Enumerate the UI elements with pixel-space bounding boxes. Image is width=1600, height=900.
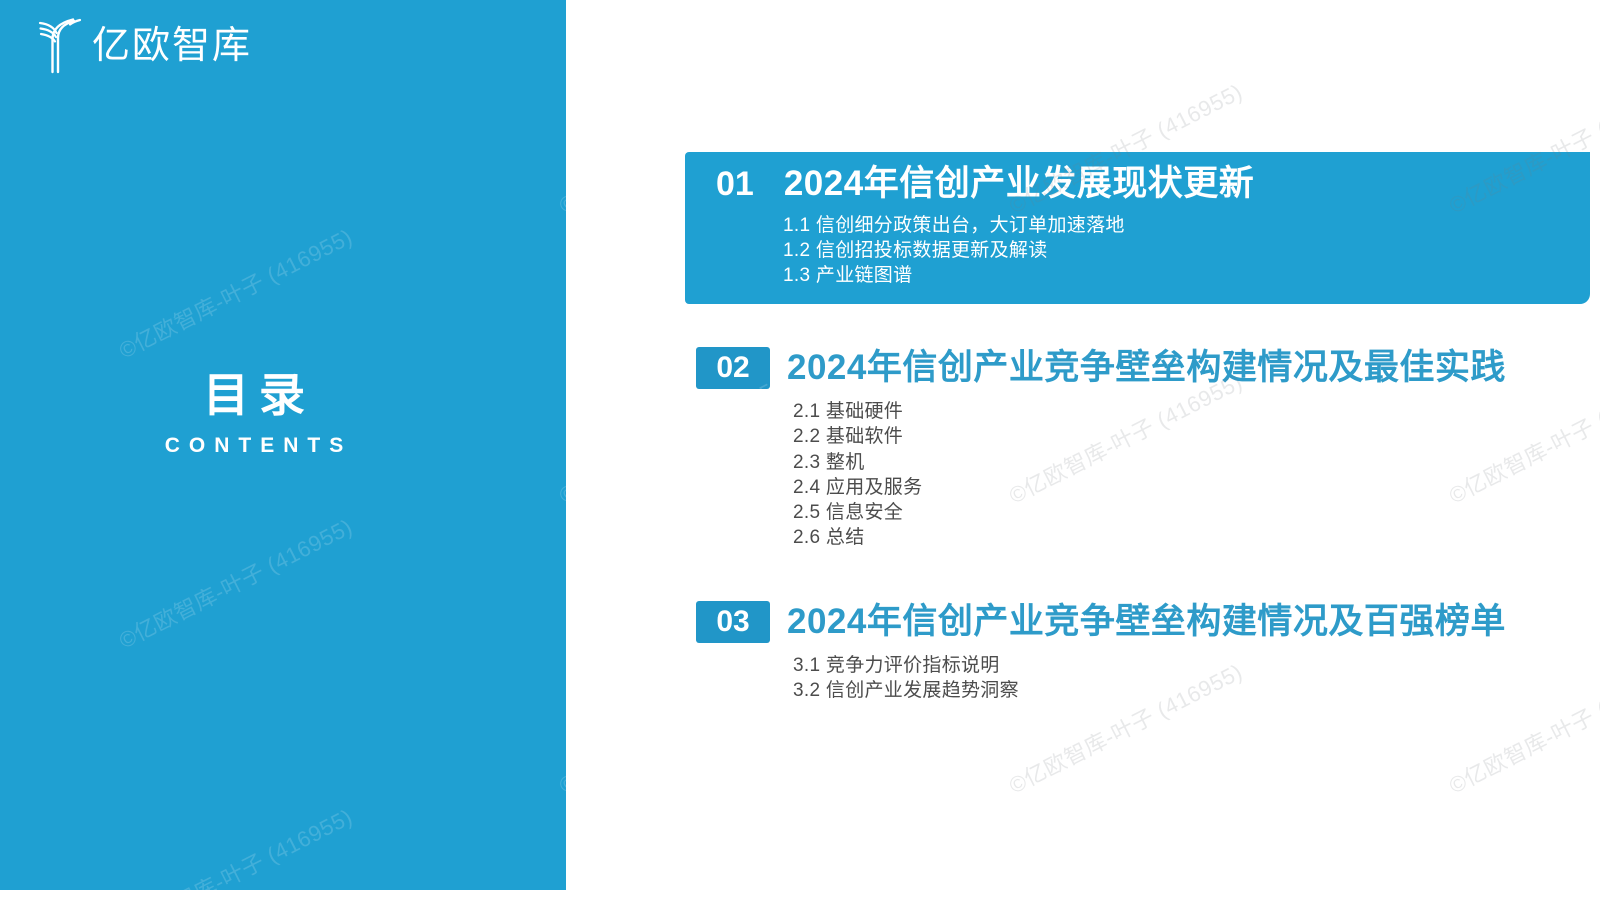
- list-item[interactable]: 1.1 信创细分政策出台，大订单加速落地: [783, 213, 1590, 238]
- slide-canvas: 亿欧智库 目录 CONTENTS 01 2024年信创产业发展现状更新 1.1 …: [0, 0, 1600, 900]
- toc-section-02[interactable]: 02 2024年信创产业竞争壁垒构建情况及最佳实践 2.1 基础硬件 2.2 基…: [696, 347, 1506, 551]
- list-item[interactable]: 2.6 总结: [793, 525, 1506, 550]
- list-item[interactable]: 2.1 基础硬件: [793, 399, 1506, 424]
- list-item[interactable]: 3.2 信创产业发展趋势洞察: [793, 678, 1506, 703]
- section-03-title: 2024年信创产业竞争壁垒构建情况及百强榜单: [787, 603, 1506, 642]
- left-blue-panel: 亿欧智库 目录 CONTENTS: [0, 0, 566, 890]
- contents-heading-block: 目录 CONTENTS: [0, 370, 566, 456]
- contents-title-en: CONTENTS: [0, 435, 508, 456]
- yiou-tree-logo-icon: [36, 18, 86, 74]
- toc-section-03[interactable]: 03 2024年信创产业竞争壁垒构建情况及百强榜单 3.1 竞争力评价指标说明 …: [696, 601, 1506, 704]
- brand-logo: 亿欧智库: [36, 18, 252, 74]
- section-02-number-badge: 02: [696, 347, 770, 389]
- list-item[interactable]: 2.2 基础软件: [793, 424, 1506, 449]
- toc-section-01[interactable]: 01 2024年信创产业发展现状更新 1.1 信创细分政策出台，大订单加速落地 …: [685, 152, 1590, 304]
- section-01-title: 2024年信创产业发展现状更新: [784, 164, 1254, 204]
- section-01-header: 01 2024年信创产业发展现状更新: [685, 164, 1590, 204]
- list-item[interactable]: 2.5 信息安全: [793, 500, 1506, 525]
- section-03-sublist: 3.1 竞争力评价指标说明 3.2 信创产业发展趋势洞察: [696, 653, 1506, 704]
- section-03-header: 03 2024年信创产业竞争壁垒构建情况及百强榜单: [696, 601, 1506, 643]
- list-item[interactable]: 1.2 信创招投标数据更新及解读: [783, 238, 1590, 263]
- list-item[interactable]: 1.3 产业链图谱: [783, 263, 1590, 288]
- section-01-number: 01: [716, 165, 754, 204]
- section-02-header: 02 2024年信创产业竞争壁垒构建情况及最佳实践: [696, 347, 1506, 389]
- contents-title-cn: 目录: [0, 370, 508, 421]
- list-item[interactable]: 3.1 竞争力评价指标说明: [793, 653, 1506, 678]
- section-02-sublist: 2.1 基础硬件 2.2 基础软件 2.3 整机 2.4 应用及服务 2.5 信…: [696, 399, 1506, 551]
- list-item[interactable]: 2.4 应用及服务: [793, 475, 1506, 500]
- section-03-number-badge: 03: [696, 601, 770, 643]
- section-02-title: 2024年信创产业竞争壁垒构建情况及最佳实践: [787, 349, 1506, 388]
- toc-sections-area: 01 2024年信创产业发展现状更新 1.1 信创细分政策出台，大订单加速落地 …: [566, 0, 1600, 900]
- list-item[interactable]: 2.3 整机: [793, 450, 1506, 475]
- section-01-sublist: 1.1 信创细分政策出台，大订单加速落地 1.2 信创招投标数据更新及解读 1.…: [685, 213, 1590, 288]
- brand-logo-text: 亿欧智库: [92, 27, 252, 65]
